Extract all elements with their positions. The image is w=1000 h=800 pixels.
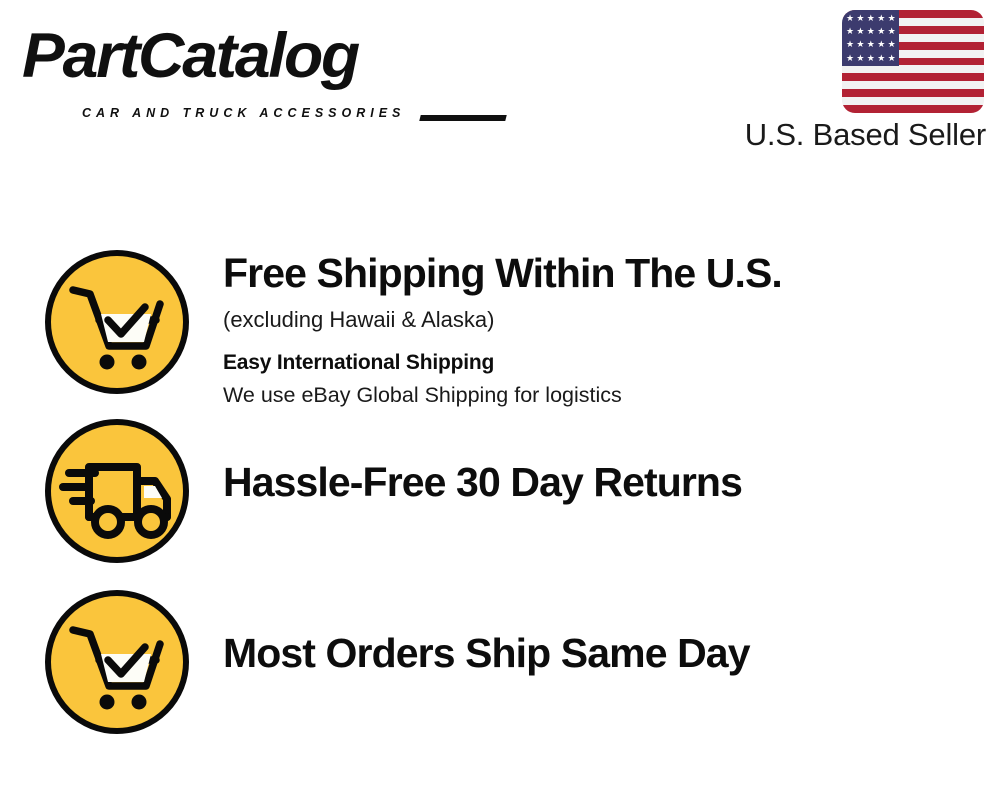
- feature-sub-heading: Easy International Shipping: [223, 348, 983, 378]
- feature-sub-detail: We use eBay Global Shipping for logistic…: [223, 380, 983, 410]
- page-header: PartCatalog CAR AND TRUCK ACCESSORIES ★★…: [0, 0, 1000, 175]
- flag-star: ★: [877, 28, 885, 37]
- flag-star: ★: [877, 15, 885, 24]
- feature-item-free-shipping: Free Shipping Within The U.S. (excluding…: [0, 248, 1000, 416]
- feature-text-block: Hassle-Free 30 Day Returns: [223, 457, 983, 507]
- flag-star: ★: [846, 41, 854, 50]
- shopping-cart-check-icon: [45, 590, 189, 734]
- feature-title: Free Shipping Within The U.S.: [223, 248, 983, 298]
- flag-stripe: [842, 65, 984, 73]
- feature-list: Free Shipping Within The U.S. (excluding…: [0, 230, 1000, 760]
- flag-star: ★: [867, 55, 875, 64]
- feature-subtitle: (excluding Hawaii & Alaska): [223, 304, 983, 336]
- feature-text-block: Free Shipping Within The U.S. (excluding…: [223, 248, 983, 410]
- flag-star: ★: [888, 41, 896, 50]
- flag-star: ★: [877, 55, 885, 64]
- flag-stripe: [842, 97, 984, 105]
- feature-title: Most Orders Ship Same Day: [223, 628, 983, 678]
- flag-stripe: [842, 89, 984, 97]
- flag-star: ★: [856, 15, 864, 24]
- us-flag-icon: ★★★★★★★★★★★★★★★★★★★★: [842, 10, 984, 113]
- flag-star: ★: [846, 28, 854, 37]
- flag-stripe: [842, 105, 984, 113]
- flag-star: ★: [867, 28, 875, 37]
- flag-star: ★: [867, 15, 875, 24]
- flag-star: ★: [888, 55, 896, 64]
- feature-title: Hassle-Free 30 Day Returns: [223, 457, 983, 507]
- delivery-truck-icon: [45, 419, 189, 563]
- flag-star: ★: [846, 55, 854, 64]
- feature-item-same-day-ship: Most Orders Ship Same Day: [0, 590, 1000, 740]
- flag-star: ★: [856, 41, 864, 50]
- promo-banner-page: { "header": { "logo": { "wordmark": "Par…: [0, 0, 1000, 800]
- flag-star: ★: [856, 28, 864, 37]
- flag-star: ★: [888, 28, 896, 37]
- flag-star: ★: [846, 15, 854, 24]
- brand-wordmark: PartCatalog: [22, 18, 358, 94]
- flag-star: ★: [856, 55, 864, 64]
- shopping-cart-check-icon: [45, 250, 189, 394]
- flag-stripe: [842, 73, 984, 81]
- brand-tagline: CAR AND TRUCK ACCESSORIES: [82, 106, 405, 120]
- flag-star: ★: [877, 41, 885, 50]
- flag-stripe: [842, 81, 984, 89]
- us-based-seller-label: U.S. Based Seller: [724, 117, 986, 153]
- flag-star: ★: [867, 41, 875, 50]
- brand-underline-swoosh: [419, 115, 506, 121]
- feature-text-block: Most Orders Ship Same Day: [223, 628, 983, 678]
- flag-star: ★: [888, 15, 896, 24]
- part-catalog-logo[interactable]: PartCatalog CAR AND TRUCK ACCESSORIES: [22, 18, 492, 113]
- feature-item-returns: Hassle-Free 30 Day Returns: [0, 419, 1000, 569]
